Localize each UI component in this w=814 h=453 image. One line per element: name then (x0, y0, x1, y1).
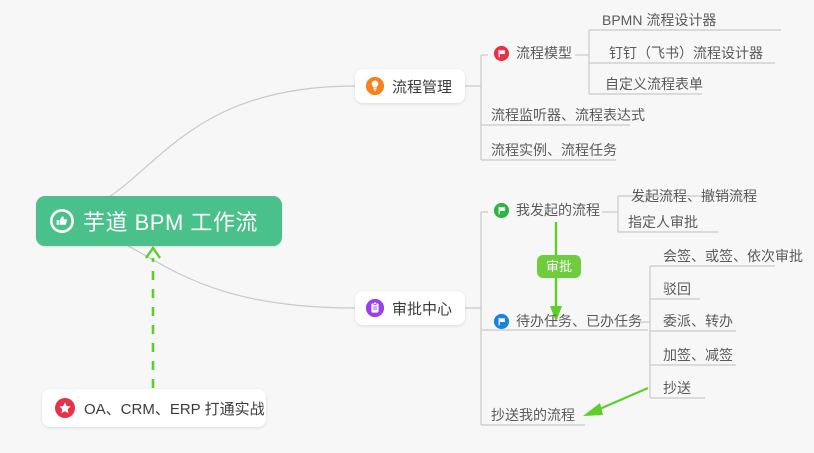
leaf-node-add-remove-sign[interactable]: 加签、减签 (659, 345, 739, 369)
leaf-node-assignee-approval[interactable]: 指定人审批 (624, 212, 704, 236)
callout-node-integration[interactable]: OA、CRM、ERP 打通实战 (42, 389, 266, 427)
flag-icon (494, 314, 509, 329)
leaf-node-reject[interactable]: 驳回 (659, 279, 697, 303)
leaf-node-start-cancel-process[interactable]: 发起流程、撤销流程 (627, 186, 763, 210)
clipboard-icon (366, 299, 384, 317)
cc-arrow (595, 388, 648, 411)
thumbs-up-icon (50, 209, 74, 233)
flag-icon (494, 46, 509, 61)
branch-label: 审批中心 (392, 298, 452, 319)
branch-node-process-management[interactable]: 流程管理 (355, 69, 465, 103)
leaf-node-bpmn-designer[interactable]: BPMN 流程设计器 (598, 10, 722, 34)
leaf-node-instance-task[interactable]: 流程实例、流程任务 (487, 140, 623, 164)
annotation-chip-approval[interactable]: 审批 (537, 255, 581, 278)
leaf-node-dingtalk-designer[interactable]: 钉钉（飞书）流程设计器 (605, 43, 769, 67)
leaf-label: 我发起的流程 (516, 200, 600, 220)
leaf-node-cc-my-process[interactable]: 抄送我的流程 (487, 405, 581, 429)
star-icon (55, 398, 75, 418)
lightbulb-icon (366, 77, 384, 95)
leaf-node-process-model[interactable]: 流程模型 (492, 43, 578, 67)
leaf-node-custom-form[interactable]: 自定义流程表单 (601, 74, 709, 98)
root-node[interactable]: 芋道 BPM 工作流 (36, 196, 282, 246)
leaf-label: 流程模型 (516, 43, 572, 63)
leaf-node-cc[interactable]: 抄送 (659, 378, 697, 402)
leaf-node-listener-expression[interactable]: 流程监听器、流程表达式 (487, 105, 651, 129)
branch-node-approval-center[interactable]: 审批中心 (355, 291, 465, 325)
leaf-node-todo-done-task[interactable]: 待办任务、已办任务 (492, 311, 648, 335)
root-label: 芋道 BPM 工作流 (83, 205, 258, 237)
leaf-node-my-started-process[interactable]: 我发起的流程 (492, 200, 606, 224)
branch-label: 流程管理 (392, 76, 452, 97)
leaf-node-delegate-transfer[interactable]: 委派、转办 (659, 311, 739, 335)
leaf-label: 待办任务、已办任务 (516, 311, 642, 331)
flag-icon (494, 203, 509, 218)
mindmap-canvas: 芋道 BPM 工作流 流程管理 审批中心 (0, 0, 814, 453)
leaf-node-countersign[interactable]: 会签、或签、依次审批 (659, 246, 809, 270)
callout-label: OA、CRM、ERP 打通实战 (84, 398, 265, 419)
